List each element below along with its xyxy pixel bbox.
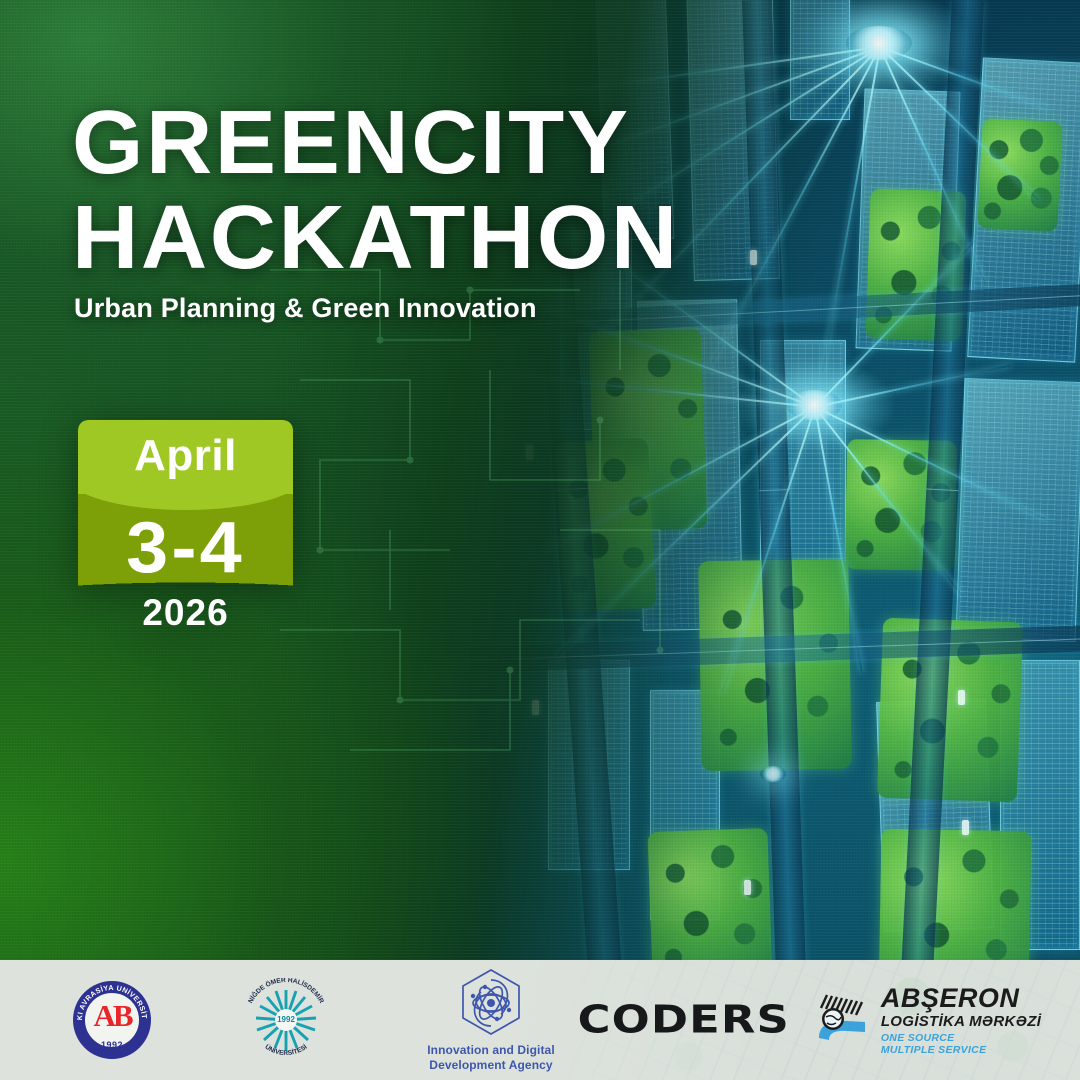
seal-monogram: AB [73, 998, 151, 1034]
title-line-2: HACKATHON [72, 191, 725, 286]
abseron-tagline-line-2: MULTIPLE SERVICE [881, 1044, 1041, 1056]
abseron-tagline: ONE SOURCE MULTIPLE SERVICE [881, 1032, 1041, 1056]
seal-year: 1992 [73, 1040, 151, 1050]
page-title: GREENCITY HACKATHON [72, 96, 712, 286]
abseron-name: ABŞERON [881, 985, 1041, 1012]
abseron-subname: LOGİSTİKA MƏRKƏZİ [881, 1014, 1041, 1029]
sponsor-logo-nigde-omer-halisdemir[interactable]: NİĞDE ÖMER HALİSDEMİR ÜNİVERSİTESİ 1992 [232, 960, 340, 1080]
date-badge: April 3-4 2026 [78, 420, 293, 634]
sponsor-logo-idda[interactable]: Innovation and Digital Development Agenc… [410, 960, 572, 1080]
badge-year: 2026 [78, 592, 293, 634]
coders-wordmark: CODERS [578, 998, 790, 1042]
idda-caption-line-2: Development Agency [427, 1058, 555, 1073]
sponsor-bar: AB 1992 BAKI AVRASİYA UNİVERSİTETİ [0, 960, 1080, 1080]
sponsor-logo-coders[interactable]: CODERS [608, 960, 760, 1080]
nigde-year: 1992 [244, 1015, 328, 1024]
sponsor-logo-abseron[interactable]: ABŞERON LOGİSTİKA MƏRKƏZİ ONE SOURCE MUL… [812, 960, 1042, 1080]
idda-caption-line-1: Innovation and Digital [427, 1043, 555, 1058]
sponsor-logo-baku-avrasiya[interactable]: AB 1992 BAKI AVRASİYA UNİVERSİTETİ [66, 960, 158, 1080]
idda-caption: Innovation and Digital Development Agenc… [427, 1043, 555, 1073]
sponsor-logo-row: AB 1992 BAKI AVRASİYA UNİVERSİTETİ [0, 960, 1080, 1080]
abseron-text-block: ABŞERON LOGİSTİKA MƏRKƏZİ ONE SOURCE MUL… [881, 985, 1041, 1056]
title-line-1: GREENCITY [72, 96, 725, 191]
idda-hex-atom-icon [455, 967, 527, 1039]
abseron-tagline-line-1: ONE SOURCE [881, 1032, 1041, 1044]
abseron-lockup: ABŞERON LOGİSTİKA MƏRKƏZİ ONE SOURCE MUL… [813, 985, 1041, 1056]
abseron-globe-road-icon [813, 992, 873, 1048]
poster-canvas: GREENCITY HACKATHON Urban Planning & Gre… [0, 0, 1080, 1080]
nigde-sunburst-icon: NİĞDE ÖMER HALİSDEMİR ÜNİVERSİTESİ 1992 [244, 978, 328, 1062]
badge-month: April [78, 427, 293, 485]
bau-seal-icon: AB 1992 BAKI AVRASİYA UNİVERSİTETİ [73, 981, 151, 1059]
badge-days: 3-4 [73, 510, 299, 586]
subtitle: Urban Planning & Green Innovation [74, 293, 537, 324]
